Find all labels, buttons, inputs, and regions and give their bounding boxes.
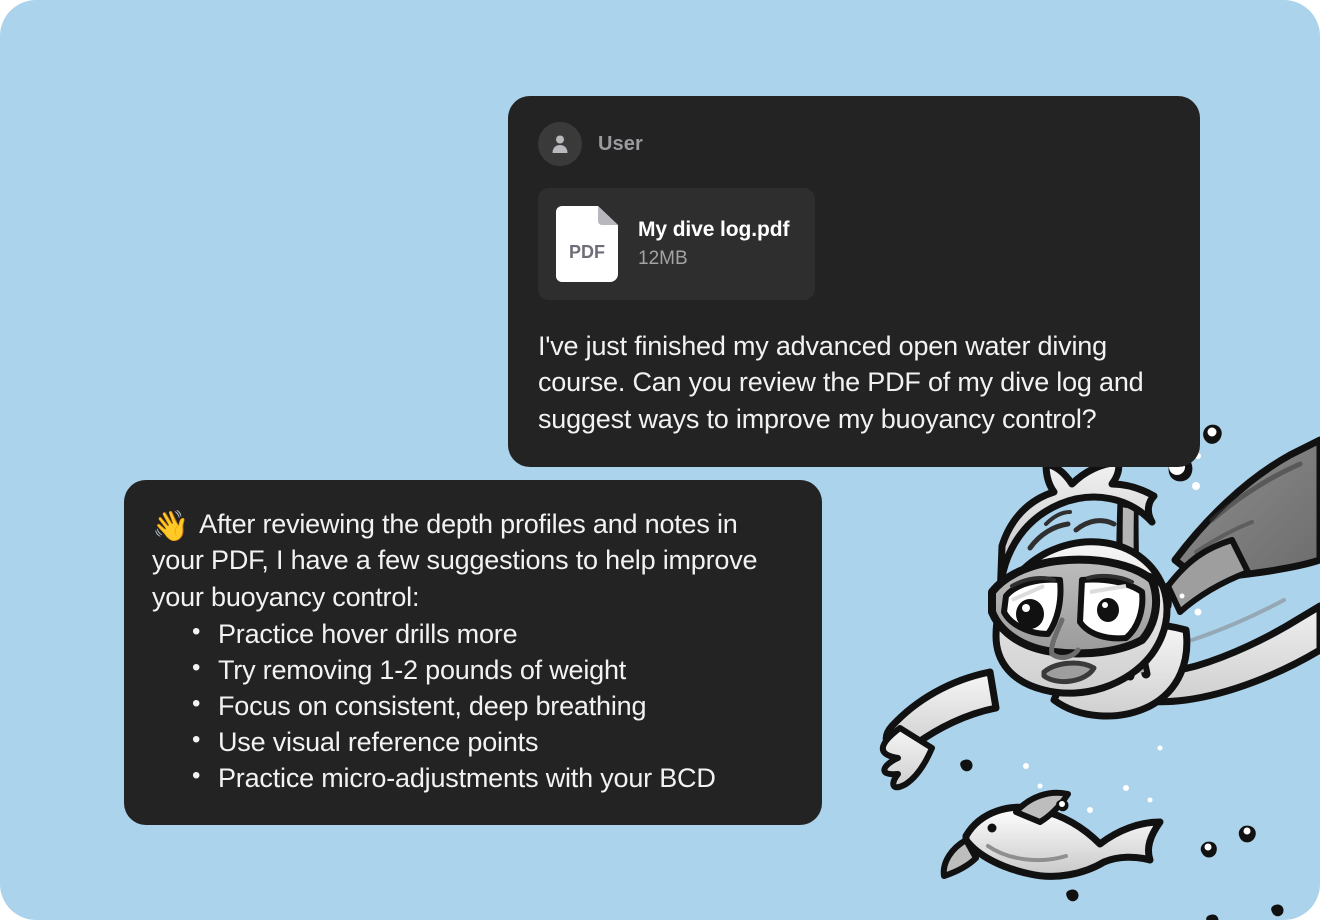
user-message-bubble: User PDF My dive log.pdf 12MB I've just … xyxy=(508,96,1200,467)
suggestion-list: Practice hover drills more Try removing … xyxy=(152,617,792,797)
assistant-message-bubble: 👋After reviewing the depth profiles and … xyxy=(124,480,822,825)
app-page: User PDF My dive log.pdf 12MB I've just … xyxy=(0,0,1320,920)
file-name-label: My dive log.pdf xyxy=(638,218,789,242)
pdf-icon-label: PDF xyxy=(569,242,605,262)
list-item: Focus on consistent, deep breathing xyxy=(192,689,792,725)
air-bubbles xyxy=(960,425,1283,920)
fish xyxy=(944,793,1160,877)
assistant-intro-paragraph: 👋After reviewing the depth profiles and … xyxy=(152,506,792,615)
list-item: Practice micro-adjustments with your BCD xyxy=(192,761,792,797)
file-meta: My dive log.pdf 12MB xyxy=(638,218,789,270)
file-size-label: 12MB xyxy=(638,248,789,270)
list-item: Use visual reference points xyxy=(192,725,792,761)
snorkeler-figure xyxy=(883,440,1320,787)
user-message-body: I've just finished my advanced open wate… xyxy=(538,328,1170,437)
waving-hand-emoji: 👋 xyxy=(152,510,189,543)
pdf-file-icon: PDF xyxy=(556,206,618,282)
person-avatar-icon xyxy=(538,122,582,166)
sender-label: User xyxy=(598,133,643,156)
list-item: Try removing 1-2 pounds of weight xyxy=(192,653,792,689)
user-message-header: User xyxy=(538,122,1170,166)
list-item: Practice hover drills more xyxy=(192,617,792,653)
file-attachment-card[interactable]: PDF My dive log.pdf 12MB xyxy=(538,188,815,300)
assistant-intro-text: After reviewing the depth profiles and n… xyxy=(152,509,757,612)
